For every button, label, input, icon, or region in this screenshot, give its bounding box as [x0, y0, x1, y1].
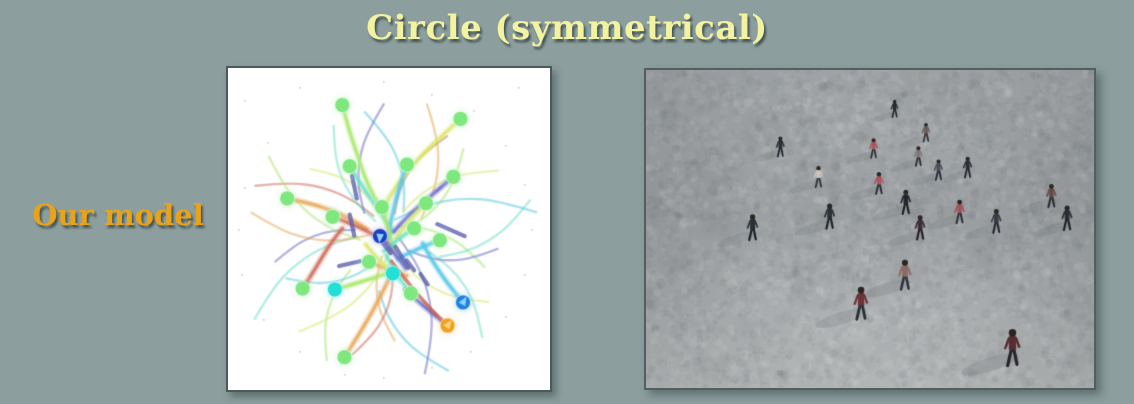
slide-stage: Circle (symmetrical) Our model [0, 0, 1134, 404]
page-title: Circle (symmetrical) [0, 8, 1134, 48]
trajectory-plot-panel [226, 66, 552, 392]
trajectory-plot-canvas [228, 68, 550, 390]
crowd-render-canvas [646, 70, 1094, 388]
crowd-render-panel [644, 68, 1096, 390]
row-label-our-model: Our model [18, 198, 218, 232]
